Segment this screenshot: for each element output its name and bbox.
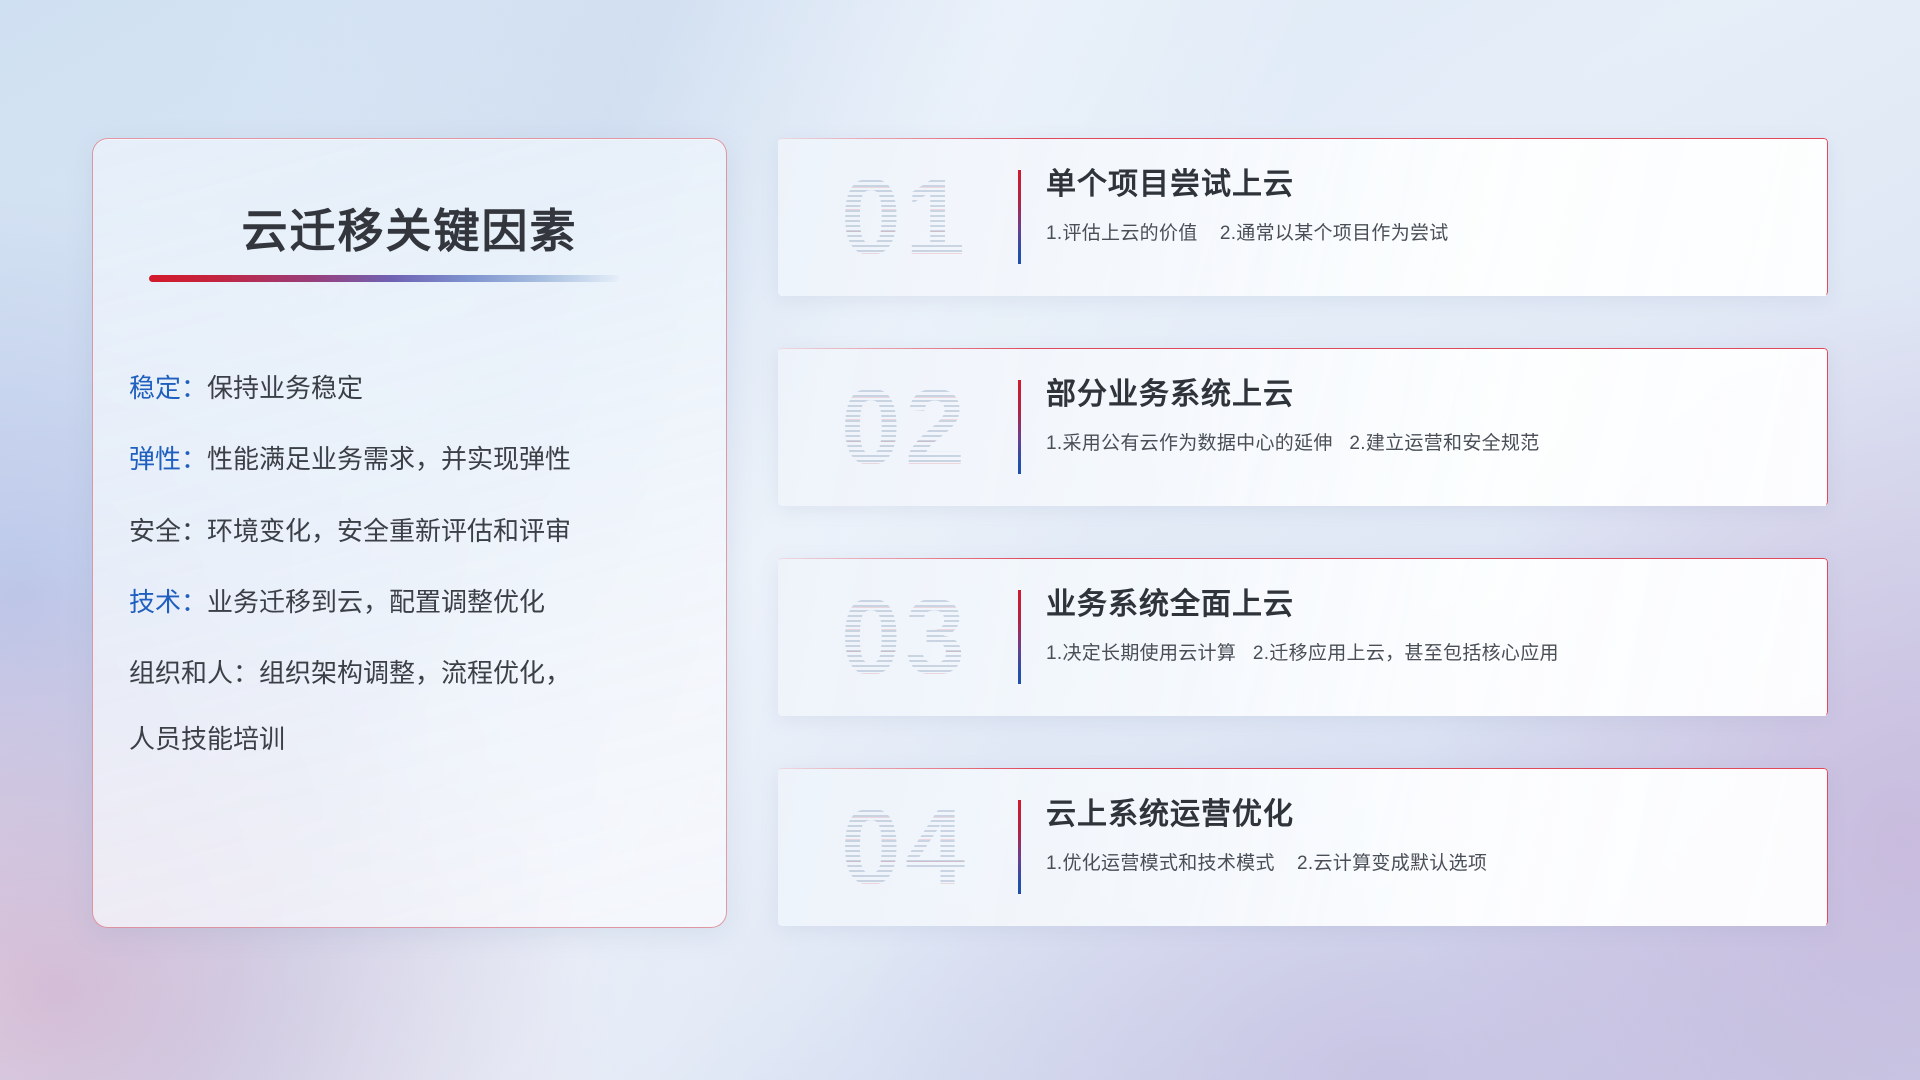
stage-card-body: 单个项目尝试上云 1.评估上云的价值 2.通常以某个项目作为尝试: [1046, 166, 1804, 245]
factor-text: 性能满足业务需求，并实现弹性: [207, 444, 571, 474]
factor-label: 弹性：: [129, 444, 207, 474]
list-item: 组织和人：组织架构调整，流程优化，: [129, 656, 699, 691]
factor-list: 稳定：保持业务稳定 弹性：性能满足业务需求，并实现弹性 安全：环境变化，安全重新…: [129, 371, 699, 757]
list-item: 安全：环境变化，安全重新评估和评审: [129, 514, 699, 549]
stage-description: 1.决定长期使用云计算 2.迁移应用上云，甚至包括核心应用: [1046, 638, 1804, 665]
stage-card-list: 01 01 单个项目尝试上云 1.评估上云的价值 2.通常以某个项目作为尝试 0…: [778, 138, 1828, 928]
stage-description: 1.优化运营模式和技术模式 2.云计算变成默认选项: [1046, 848, 1804, 875]
stage-card[interactable]: 01 01 单个项目尝试上云 1.评估上云的价值 2.通常以某个项目作为尝试: [778, 138, 1828, 296]
list-item-continuation: 人员技能培训: [129, 722, 699, 757]
slide-canvas: 云迁移关键因素 稳定：保持业务稳定 弹性：性能满足业务需求，并实现弹性 安全：环…: [0, 0, 1920, 1080]
factor-text: 组织架构调整，流程优化，: [259, 658, 571, 688]
stage-divider-bar: [1018, 170, 1021, 264]
stage-number-ghost: 03: [800, 572, 1010, 702]
stage-title: 业务系统全面上云: [1046, 586, 1804, 624]
factor-label: 技术：: [129, 587, 207, 617]
factor-label: 组织和人：: [129, 658, 259, 688]
stage-card-body: 业务系统全面上云 1.决定长期使用云计算 2.迁移应用上云，甚至包括核心应用: [1046, 586, 1804, 665]
stage-number-ghost: 02: [800, 362, 1010, 492]
key-factors-panel: 云迁移关键因素 稳定：保持业务稳定 弹性：性能满足业务需求，并实现弹性 安全：环…: [92, 138, 727, 928]
page-title: 云迁移关键因素: [93, 195, 726, 261]
stage-title: 云上系统运营优化: [1046, 796, 1804, 834]
list-item: 技术：业务迁移到云，配置调整优化: [129, 585, 699, 620]
factor-text: 业务迁移到云，配置调整优化: [207, 587, 545, 617]
stage-card[interactable]: 02 02 部分业务系统上云 1.采用公有云作为数据中心的延伸 2.建立运营和安…: [778, 348, 1828, 506]
stage-number-ghost-tint: 04: [800, 782, 1010, 912]
list-item: 弹性：性能满足业务需求，并实现弹性: [129, 442, 699, 477]
stage-description: 1.采用公有云作为数据中心的延伸 2.建立运营和安全规范: [1046, 428, 1804, 455]
stage-title: 单个项目尝试上云: [1046, 166, 1804, 204]
stage-divider-bar: [1018, 380, 1021, 474]
factor-text: 环境变化，安全重新评估和评审: [207, 516, 571, 546]
stage-description: 1.评估上云的价值 2.通常以某个项目作为尝试: [1046, 218, 1804, 245]
factor-label: 稳定：: [129, 373, 207, 403]
factor-text-continuation: 人员技能培训: [129, 722, 699, 757]
stage-title: 部分业务系统上云: [1046, 376, 1804, 414]
stage-card-body: 云上系统运营优化 1.优化运营模式和技术模式 2.云计算变成默认选项: [1046, 796, 1804, 875]
stage-number-ghost-tint: 02: [800, 362, 1010, 492]
stage-number-ghost-tint: 01: [800, 152, 1010, 282]
stage-divider-bar: [1018, 800, 1021, 894]
stage-divider-bar: [1018, 590, 1021, 684]
list-item: 稳定：保持业务稳定: [129, 371, 699, 406]
factor-text: 保持业务稳定: [207, 373, 363, 403]
stage-card-body: 部分业务系统上云 1.采用公有云作为数据中心的延伸 2.建立运营和安全规范: [1046, 376, 1804, 455]
stage-number-ghost-tint: 03: [800, 572, 1010, 702]
title-underline-rule: [149, 275, 619, 282]
stage-card[interactable]: 03 03 业务系统全面上云 1.决定长期使用云计算 2.迁移应用上云，甚至包括…: [778, 558, 1828, 716]
factor-label: 安全：: [129, 516, 207, 546]
stage-card[interactable]: 04 04 云上系统运营优化 1.优化运营模式和技术模式 2.云计算变成默认选项: [778, 768, 1828, 926]
stage-number-ghost: 01: [800, 152, 1010, 282]
stage-number-ghost: 04: [800, 782, 1010, 912]
